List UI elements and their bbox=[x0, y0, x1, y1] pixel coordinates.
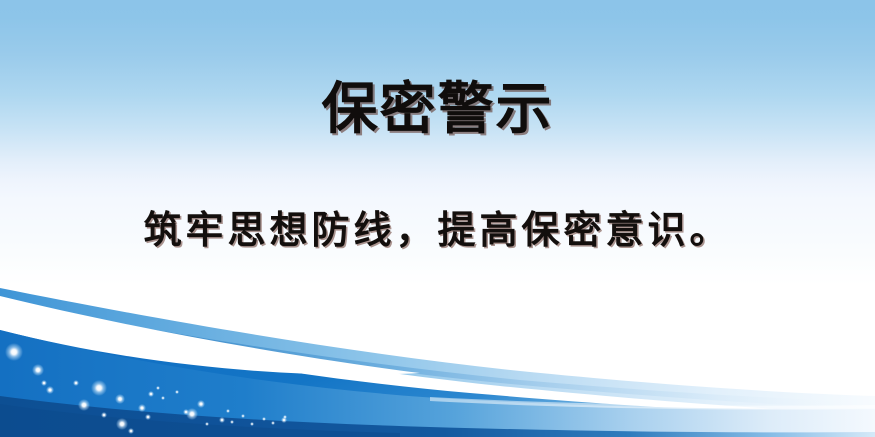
page-title: 保密警示 bbox=[0, 78, 875, 140]
secrecy-warning-poster: 保密警示 筑牢思想防线，提高保密意识。 bbox=[0, 0, 875, 437]
poster-subtitle: 筑牢思想防线，提高保密意识。 bbox=[0, 208, 875, 254]
poster-text-layer: 保密警示 筑牢思想防线，提高保密意识。 bbox=[0, 0, 875, 437]
